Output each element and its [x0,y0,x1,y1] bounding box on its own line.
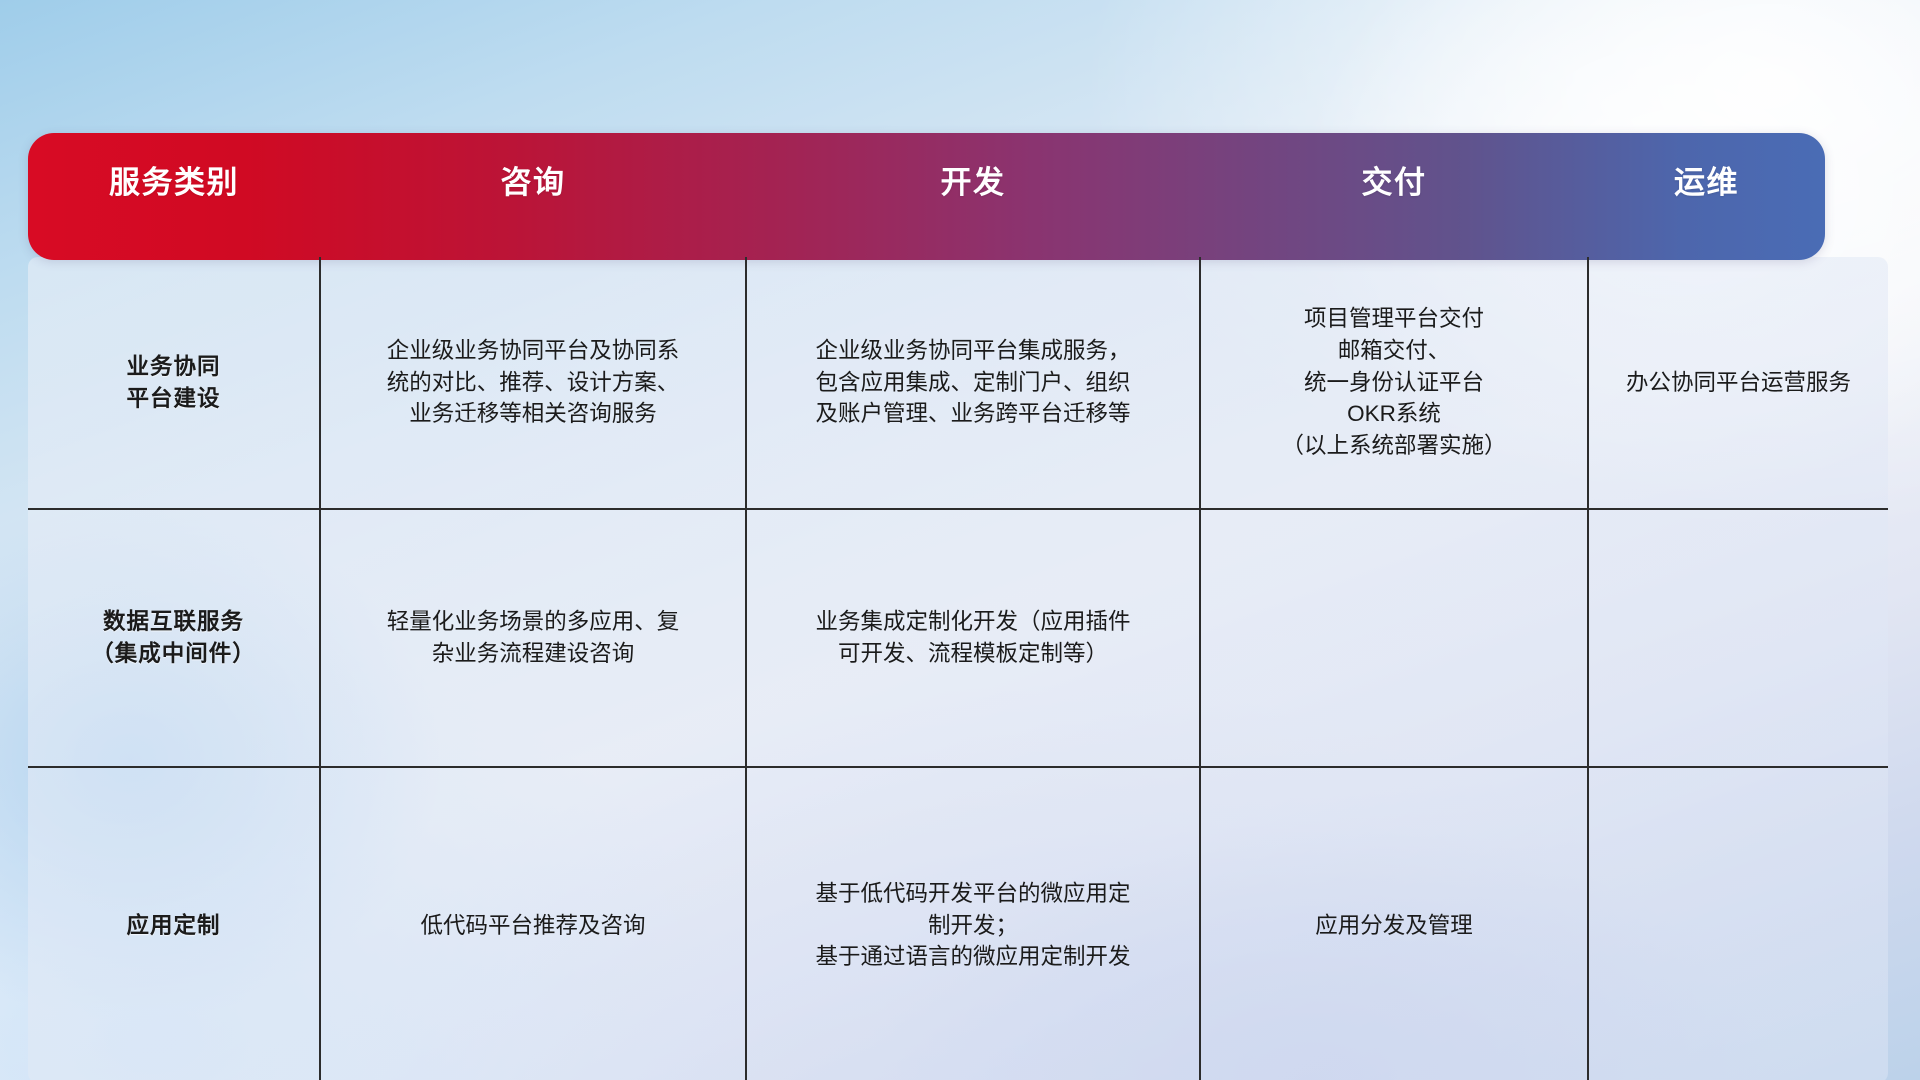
table-grid: 业务协同 平台建设 企业级业务协同平台及协同系 统的对比、推荐、设计方案、 业务… [28,257,1888,1080]
cell-category-2: 应用定制 [28,767,320,1080]
cell-delivery-1 [1200,509,1588,767]
column-header-delivery: 交付 [1200,133,1588,260]
cell-operations-2 [1588,767,1888,1080]
cell-delivery-2: 应用分发及管理 [1200,767,1588,1080]
column-header-category: 服务类别 [28,133,320,260]
table-row: 数据互联服务 （集成中间件） 轻量化业务场景的多应用、复 杂业务流程建设咨询 业… [28,509,1888,767]
cell-development-0: 企业级业务协同平台集成服务， 包含应用集成、定制门户、组织 及账户管理、业务跨平… [746,257,1200,509]
cell-operations-1 [1588,509,1888,767]
cell-development-2: 基于低代码开发平台的微应用定 制开发； 基于通过语言的微应用定制开发 [746,767,1200,1080]
cell-category-1: 数据互联服务 （集成中间件） [28,509,320,767]
column-header-development: 开发 [746,133,1200,260]
table-row: 业务协同 平台建设 企业级业务协同平台及协同系 统的对比、推荐、设计方案、 业务… [28,257,1888,509]
column-header-consulting: 咨询 [320,133,746,260]
cell-consulting-2: 低代码平台推荐及咨询 [320,767,746,1080]
cell-category-0: 业务协同 平台建设 [28,257,320,509]
cell-operations-0: 办公协同平台运营服务 [1588,257,1888,509]
table-row: 应用定制 低代码平台推荐及咨询 基于低代码开发平台的微应用定 制开发； 基于通过… [28,767,1888,1080]
cell-consulting-1: 轻量化业务场景的多应用、复 杂业务流程建设咨询 [320,509,746,767]
column-header-operations: 运维 [1588,133,1825,260]
cell-consulting-0: 企业级业务协同平台及协同系 统的对比、推荐、设计方案、 业务迁移等相关咨询服务 [320,257,746,509]
cell-development-1: 业务集成定制化开发（应用插件 可开发、流程模板定制等） [746,509,1200,767]
cell-delivery-0: 项目管理平台交付 邮箱交付、 统一身份认证平台 OKR系统 （以上系统部署实施） [1200,257,1588,509]
table-header-bar: 服务类别 咨询 开发 交付 运维 [28,133,1825,260]
service-matrix-table: 服务类别 咨询 开发 交付 运维 业务协同 平台建设 企业级业务协同平台及协同系… [28,133,1892,953]
